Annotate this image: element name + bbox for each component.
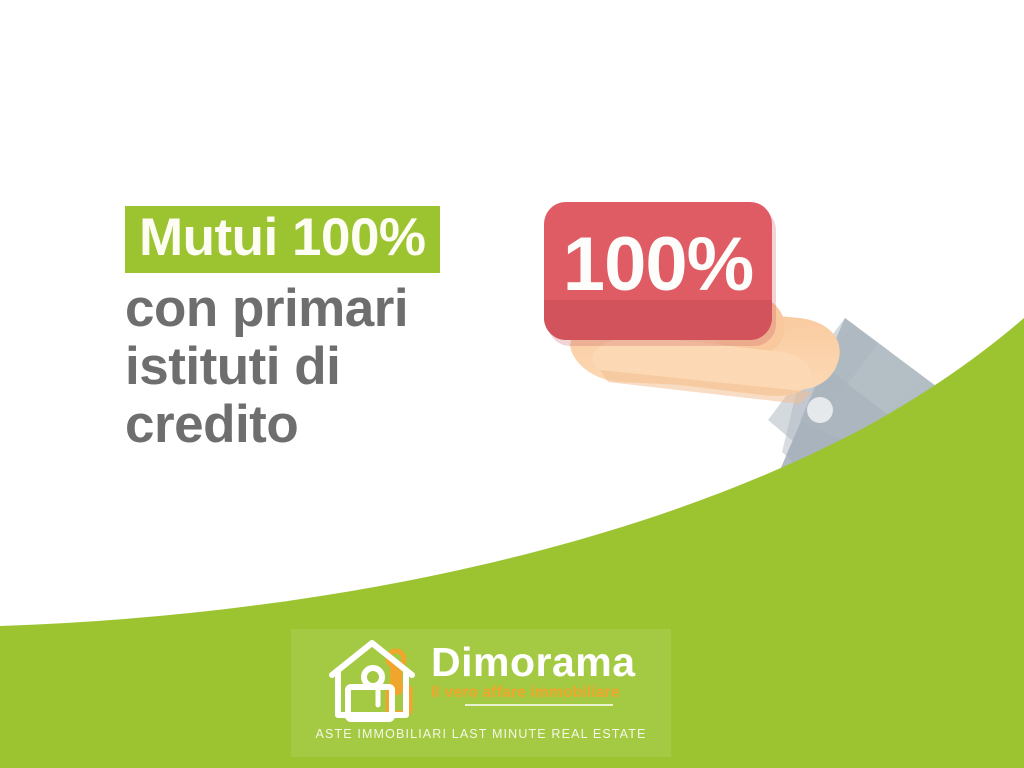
logo-inner: Dimorama Il vero affare immobiliare ASTE… xyxy=(291,629,671,757)
headline-highlight: Mutui 100% xyxy=(125,206,440,273)
brand-strapline: ASTE IMMOBILIARI LAST MINUTE REAL ESTATE xyxy=(291,727,671,741)
tagline-divider xyxy=(465,704,613,706)
card-percent-label: 100% xyxy=(563,222,753,307)
headline-block: Mutui 100% con primari istituti di credi… xyxy=(125,206,525,453)
wordmark: Dimorama Il vero affare immobiliare xyxy=(431,641,671,706)
headline-line-3: credito xyxy=(125,397,525,453)
cufflink-button-icon xyxy=(807,397,833,423)
promo-banner: 100% Mutui 100% con primari istituti di … xyxy=(0,0,1024,768)
headline-line-1: con primari xyxy=(125,281,525,337)
house-outline-icon xyxy=(324,637,428,723)
headline-body: con primari istituti di credito xyxy=(125,281,525,453)
headline-line-2: istituti di xyxy=(125,339,525,395)
brand-tagline: Il vero affare immobiliare xyxy=(431,684,671,701)
brand-logo[interactable]: Dimorama Il vero affare immobiliare ASTE… xyxy=(291,629,671,757)
brand-name: Dimorama xyxy=(431,641,671,683)
